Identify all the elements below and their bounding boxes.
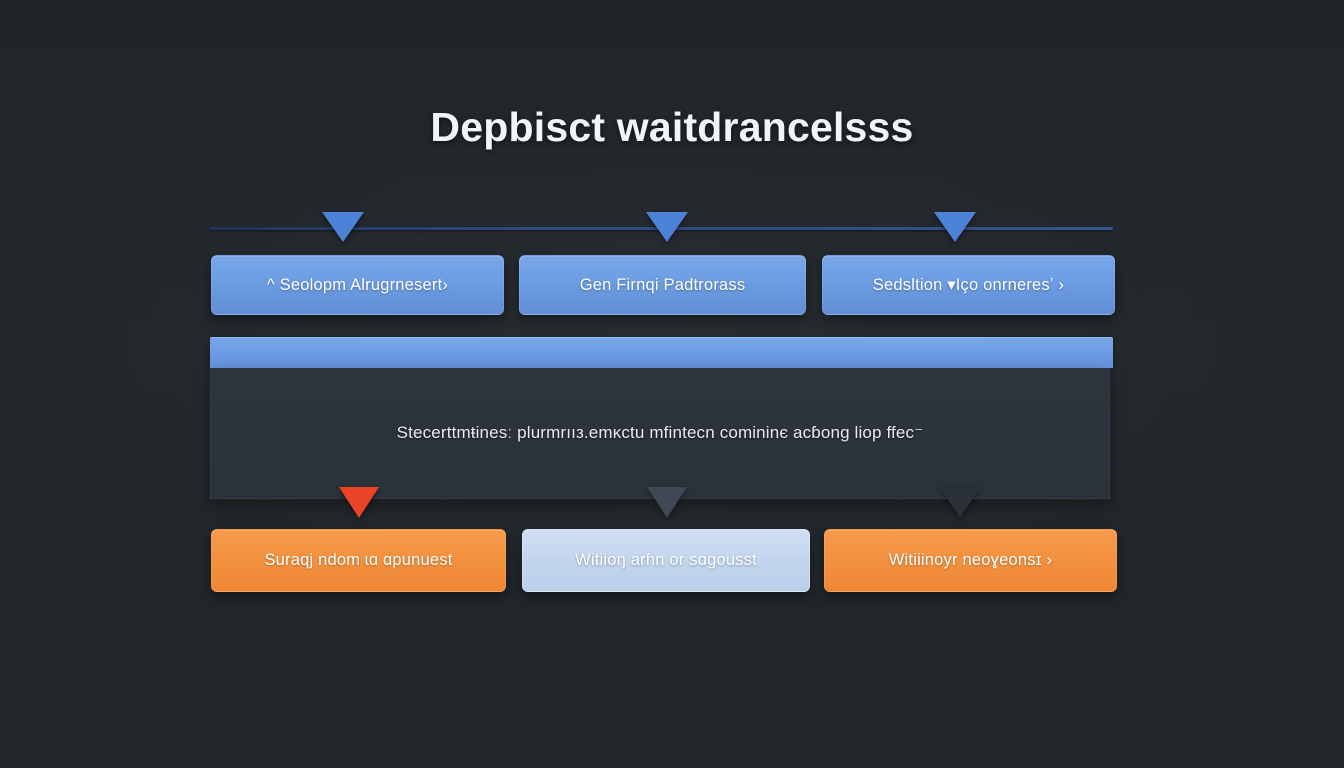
page-title: Depbisct waitdrancelsss [0, 104, 1344, 151]
central-panel-text: Stecerttmŧinesː plurmrııз.emĸctu mfintec… [379, 423, 942, 443]
bottom-marker-dark-triangle-icon [940, 487, 980, 518]
top-chip-3[interactable]: Sedsltion ▾Iço onrneresʼ › [822, 255, 1115, 315]
diagram-stage: Depbisct waitdrancelsss ^ Seolopm Alrugr… [0, 0, 1344, 768]
bottom-chip-1[interactable]: Suraqj ndom ɩɑ ɑpunuest [211, 529, 506, 592]
central-panel: Stecerttmŧinesː plurmrııз.emĸctu mfintec… [210, 337, 1113, 499]
central-panel-body: Stecerttmŧinesː plurmrııз.emĸctu mfintec… [210, 368, 1110, 499]
top-marker-3-triangle-icon [934, 212, 976, 242]
top-chip-1[interactable]: ^ Seolopm Alrugrnesert› [211, 255, 504, 315]
top-chip-2[interactable]: Gen Firnqi Padtrorass [519, 255, 806, 315]
top-marker-2-triangle-icon [646, 212, 688, 242]
central-panel-header[interactable] [210, 337, 1113, 368]
bottom-chip-3[interactable]: Witiiinoyr neoɣeonsɪ › [824, 529, 1117, 592]
bottom-marker-gray-triangle-icon [647, 487, 687, 518]
bottom-chip-2[interactable]: Witiioŋ arɦn or sɑgousst [522, 529, 810, 592]
bottom-marker-red-triangle-icon [339, 487, 379, 518]
top-marker-1-triangle-icon [322, 212, 364, 242]
